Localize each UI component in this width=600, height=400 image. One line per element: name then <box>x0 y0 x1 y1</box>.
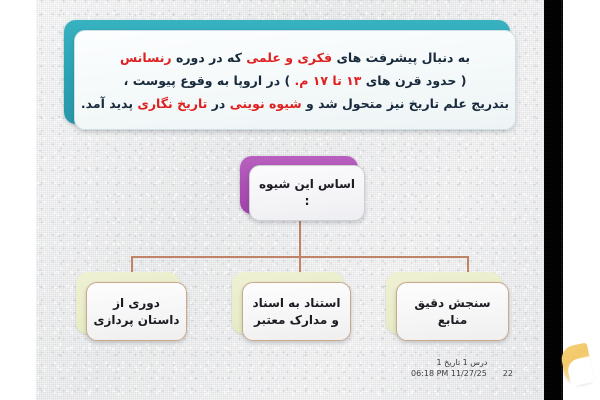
diagram-leaf-documents: استناد به اسناد و مدارک معتبر <box>232 272 344 334</box>
slide-footer: درس 1 تاریخ 1 06:18 PM 11/27/25 22 <box>392 358 532 378</box>
plain-phrase: پدید آمد. <box>81 96 138 111</box>
diagram-leaf-no-storytelling-face: دوری از داستان پردازی <box>86 282 187 341</box>
diagram-leaf-source-check-label: سنجش دقیق منابع <box>397 295 508 329</box>
diagram-leaf-no-storytelling: دوری از داستان پردازی <box>76 272 180 334</box>
diagram-leaf-documents-label: استناد به اسناد و مدارک معتبر <box>243 295 350 329</box>
highlighted-phrase: ۱۳ تا ۱۷ م. <box>295 73 362 88</box>
highlighted-phrase: فکری و علمی <box>246 50 332 65</box>
footer-meta-row: 06:18 PM 11/27/25 22 <box>392 369 532 378</box>
plain-phrase: به دنبال پیشرفت های <box>332 50 470 65</box>
plain-phrase: ( حدود قرن های <box>361 73 466 88</box>
page-edge-strip <box>544 0 563 400</box>
slide-canvas: به دنبال پیشرفت های فکری و علمی که در دو… <box>0 0 600 400</box>
statement-line-2: ( حدود قرن های ۱۳ تا ۱۷ م. ) در اروپا به… <box>124 69 467 92</box>
diagram-root-node-face: اساس این شیوه : <box>249 165 365 221</box>
right-margin <box>563 0 600 400</box>
diagram-leaf-documents-face: استناد به اسناد و مدارک معتبر <box>242 282 351 341</box>
plain-phrase: که در دوره <box>172 50 247 65</box>
statement-line-3: بتدریج علم تاریخ نیز متحول شد و شیوه نوی… <box>81 92 509 115</box>
plain-phrase: بتدریج علم تاریخ نیز متحول شد و <box>302 96 510 111</box>
footer-timestamp: 06:18 PM 11/27/25 <box>411 369 487 378</box>
diagram-leaf-source-check-face: سنجش دقیق منابع <box>396 282 509 341</box>
footer-lesson-title: درس 1 تاریخ 1 <box>392 358 532 368</box>
left-margin <box>0 0 36 400</box>
statement-box: به دنبال پیشرفت های فکری و علمی که در دو… <box>64 20 510 124</box>
plain-phrase: ) در اروپا به وقوع پیوست ، <box>124 73 295 88</box>
diagram-root-node-label: اساس این شیوه : <box>250 176 364 210</box>
highlighted-phrase: شیوه نوینی <box>230 96 302 111</box>
statement-line-1: به دنبال پیشرفت های فکری و علمی که در دو… <box>120 46 470 69</box>
footer-page-number: 22 <box>503 369 513 378</box>
highlighted-phrase: رنسانس <box>120 50 172 65</box>
diagram-leaf-source-check: سنجش دقیق منابع <box>386 272 502 334</box>
statement-box-face: به دنبال پیشرفت های فکری و علمی که در دو… <box>74 30 516 130</box>
diagram-root-node: اساس این شیوه : <box>240 156 358 214</box>
diagram-leaf-no-storytelling-label: دوری از داستان پردازی <box>87 295 186 329</box>
highlighted-phrase: تاریخ نگاری <box>137 96 207 111</box>
plain-phrase: در <box>207 96 229 111</box>
